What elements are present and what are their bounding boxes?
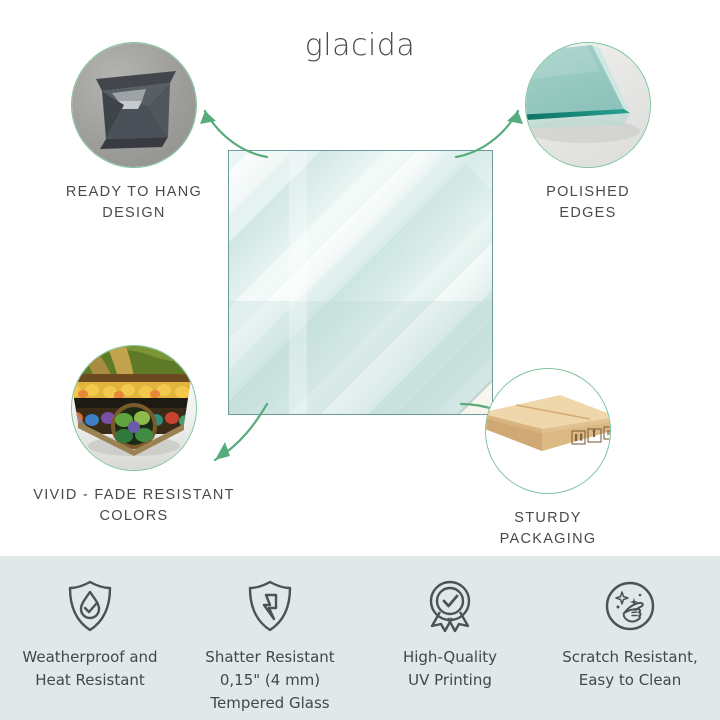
colorful-mosaic-art-icon xyxy=(72,346,196,470)
benefits-band: Weatherproof and Heat Resistant Shatter … xyxy=(0,556,720,720)
feature-image-ready-to-hang xyxy=(71,42,197,168)
feature-label-polished-edges: POLISHED EDGES xyxy=(488,182,688,224)
feature-label-ready-to-hang: READY TO HANG DESIGN xyxy=(34,182,234,224)
shield-water-drop-check-icon xyxy=(0,578,180,634)
infographic-page: glacida xyxy=(0,0,720,720)
shield-lightning-bolt-icon xyxy=(180,578,360,634)
feature-ready-to-hang: READY TO HANG DESIGN xyxy=(34,42,234,224)
feature-label-sturdy-packaging: STURDY PACKAGING xyxy=(448,508,648,550)
benefit-text-uv-printing: High-Quality UV Printing xyxy=(360,646,540,692)
benefit-scratch-resistant: Scratch Resistant, Easy to Clean xyxy=(540,578,720,692)
benefit-uv-printing: High-Quality UV Printing xyxy=(360,578,540,692)
feature-polished-edges: POLISHED EDGES xyxy=(488,42,688,224)
polished-glass-edge-icon xyxy=(526,43,650,167)
feature-sturdy-packaging: STURDY PACKAGING xyxy=(448,368,648,550)
benefit-text-weatherproof: Weatherproof and Heat Resistant xyxy=(0,646,180,692)
benefit-weatherproof: Weatherproof and Heat Resistant xyxy=(0,578,180,692)
feature-image-sturdy-packaging xyxy=(485,368,611,494)
hanging-bracket-icon xyxy=(72,43,196,167)
feature-vivid-colors: VIVID - FADE RESISTANT COLORS xyxy=(34,345,234,527)
award-ribbon-check-icon xyxy=(360,578,540,634)
feature-label-vivid-colors: VIVID - FADE RESISTANT COLORS xyxy=(4,485,264,527)
cardboard-box-icon xyxy=(486,369,610,493)
benefit-shatter-resistant: Shatter Resistant 0,15" (4 mm) Tempered … xyxy=(180,578,360,714)
feature-image-vivid-colors xyxy=(71,345,197,471)
benefit-text-shatter-resistant: Shatter Resistant 0,15" (4 mm) Tempered … xyxy=(180,646,360,714)
sparkle-cleaning-hand-icon xyxy=(540,578,720,634)
feature-image-polished-edges xyxy=(525,42,651,168)
benefit-text-scratch-resistant: Scratch Resistant, Easy to Clean xyxy=(540,646,720,692)
